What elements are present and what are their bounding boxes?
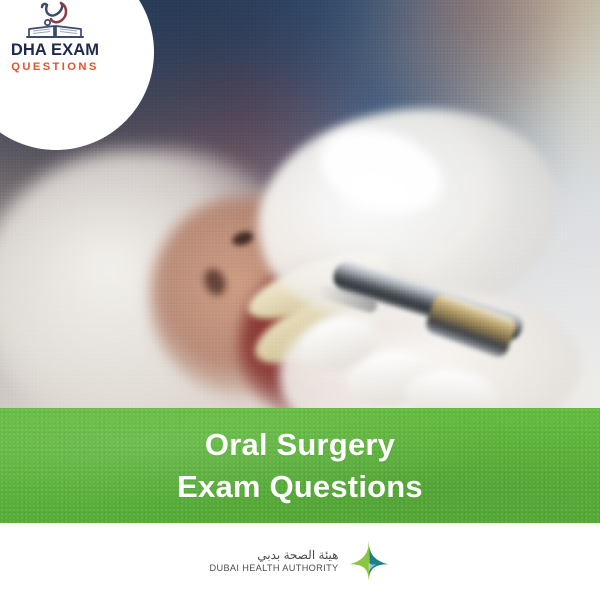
authority-name-arabic: هيئة الصحة بدبي bbox=[257, 549, 338, 561]
brand-name-secondary: QUESTIONS bbox=[11, 62, 99, 73]
dha-star-mark-icon bbox=[345, 539, 391, 585]
stethoscope-book-icon bbox=[24, 0, 86, 40]
footer: هيئة الصحة بدبي DUBAI HEALTH AUTHORITY bbox=[0, 523, 600, 600]
promo-card: DHA EXAM QUESTIONS Oral Surgery Exam Que… bbox=[0, 0, 600, 600]
authority-name-english: DUBAI HEALTH AUTHORITY bbox=[209, 564, 338, 573]
dubai-health-authority-logo[interactable]: هيئة الصحة بدبي DUBAI HEALTH AUTHORITY bbox=[209, 539, 390, 585]
brand-badge-content: DHA EXAM QUESTIONS bbox=[0, 0, 110, 84]
brand-name-primary: DHA EXAM bbox=[11, 42, 99, 59]
title-banner: Oral Surgery Exam Questions bbox=[0, 408, 600, 523]
dha-logo-text: هيئة الصحة بدبي DUBAI HEALTH AUTHORITY bbox=[209, 549, 338, 573]
page-title-line1: Oral Surgery bbox=[205, 424, 395, 465]
page-title-line2: Exam Questions bbox=[177, 466, 423, 507]
